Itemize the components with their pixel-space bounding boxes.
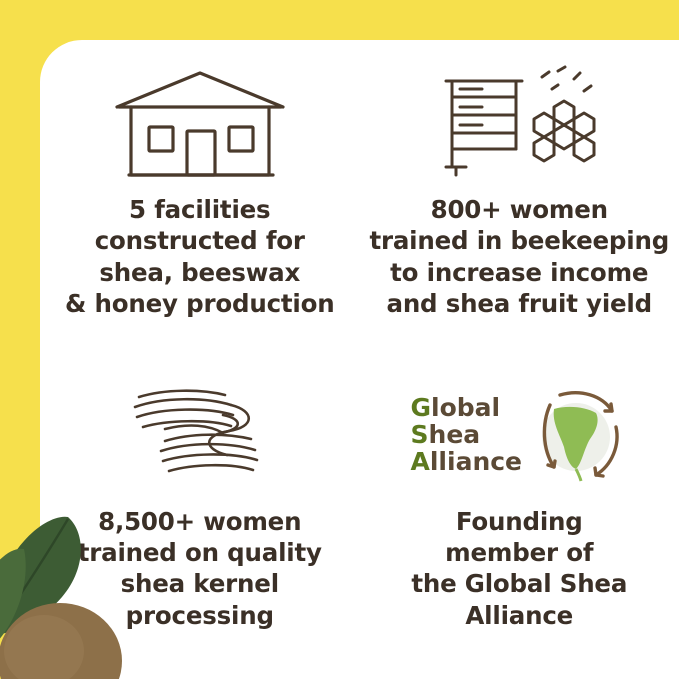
gsa-logo-wrap: Global Shea Alliance: [412, 370, 627, 500]
africa-globe-icon: [524, 383, 628, 487]
poster-root: 5 facilities constructed for shea, beesw…: [0, 0, 679, 679]
feature-cell-gsa: Global Shea Alliance: [360, 360, 679, 679]
beehive-icon-wrap: [424, 58, 614, 188]
gsa-line-alliance: Alliance: [411, 448, 523, 475]
feature-cell-beekeeping: 800+ women trained in beekeeping to incr…: [360, 40, 679, 360]
global-shea-alliance-logo: Global Shea Alliance: [412, 380, 627, 490]
gsa-line-global: Global: [411, 394, 523, 421]
house-icon: [105, 63, 295, 183]
leaf-nut-decoration: [0, 429, 180, 679]
gsa-africa-mark: [524, 383, 628, 487]
feature-cell-facilities: 5 facilities constructed for shea, beesw…: [40, 40, 360, 360]
beehive-honeycomb-icon: [424, 63, 614, 183]
feature-text-facilities: 5 facilities constructed for shea, beesw…: [65, 194, 334, 319]
gsa-line-shea: Shea: [411, 421, 523, 448]
gsa-wordmark: Global Shea Alliance: [411, 394, 523, 475]
feature-text-beekeeping: 800+ women trained in beekeeping to incr…: [369, 194, 669, 319]
house-icon-wrap: [105, 58, 295, 188]
shea-leaf-nut-illustration: [0, 429, 180, 679]
feature-text-gsa: Founding member of the Global Shea Allia…: [411, 506, 627, 631]
